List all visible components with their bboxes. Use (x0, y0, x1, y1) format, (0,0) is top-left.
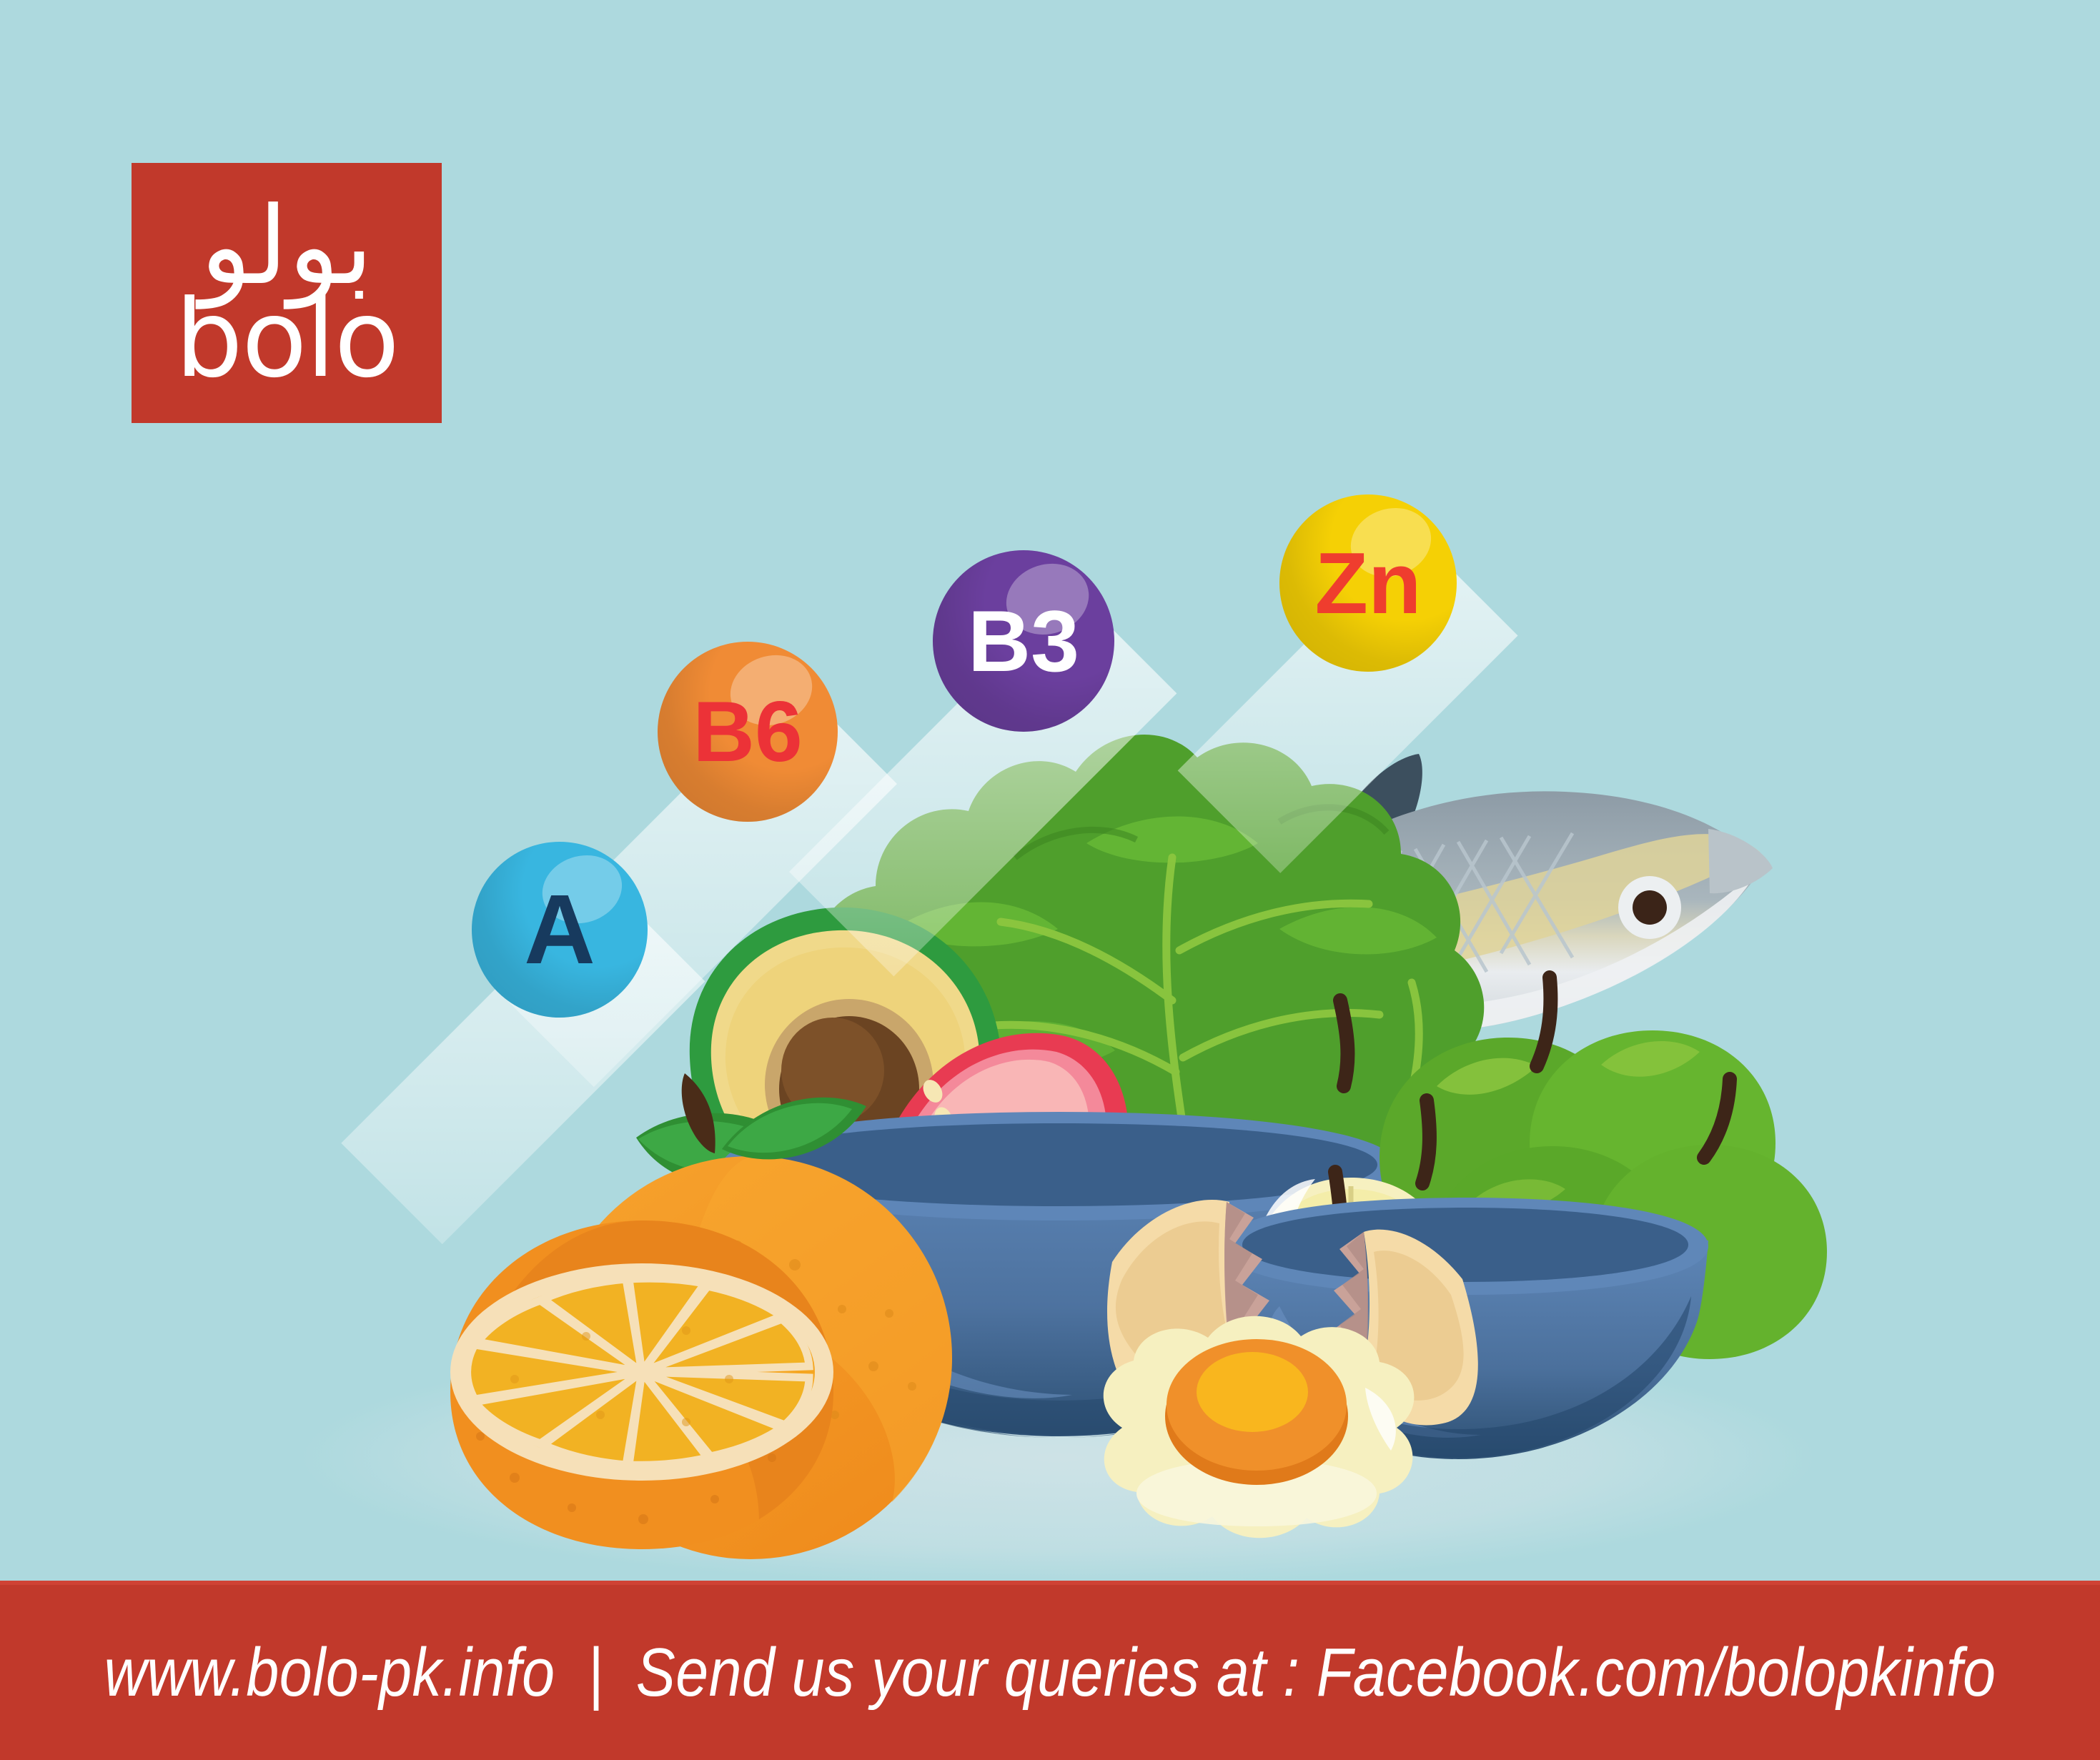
vitamin-badge-a-label: A (524, 880, 595, 979)
poster-canvas: A B6 B3 Zn بولو bolo www.bolo-pk.info | … (0, 0, 2100, 1760)
footer-website[interactable]: www.bolo-pk.info (104, 1634, 555, 1711)
vitamin-badge-a[interactable]: A (472, 842, 648, 1018)
footer-bar: www.bolo-pk.info | Send us your queries … (0, 1581, 2100, 1760)
vitamin-badge-zn-label: Zn (1314, 540, 1421, 627)
bolo-logo[interactable]: بولو bolo (132, 163, 442, 423)
vitamin-badge-b6[interactable]: B6 (658, 642, 838, 822)
footer-text-line: www.bolo-pk.info | Send us your queries … (104, 1634, 1996, 1712)
logo-latin-text: bolo (132, 286, 442, 393)
vitamin-badge-zn[interactable]: Zn (1279, 494, 1457, 672)
vitamin-badge-b6-label: B6 (693, 689, 802, 775)
vitamin-badge-b3-label: B3 (968, 597, 1079, 685)
orange-half (450, 1220, 833, 1549)
orange-segments (467, 1278, 809, 1465)
vitamin-badge-b3[interactable]: B3 (933, 550, 1114, 732)
footer-separator: | (572, 1634, 620, 1712)
footer-message[interactable]: Send us your queries at : Facebook.com/b… (636, 1634, 1996, 1711)
fried-egg (1104, 1316, 1415, 1538)
